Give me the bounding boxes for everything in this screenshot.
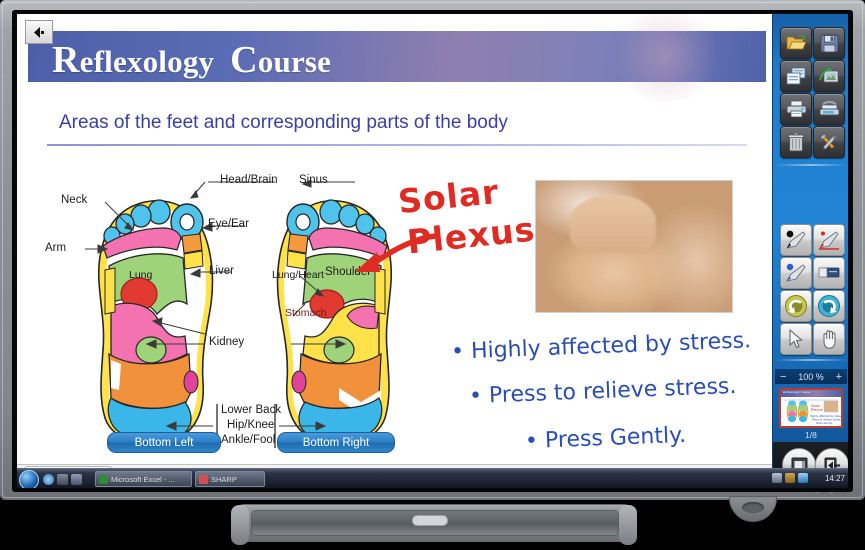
reflexology-foot-diagram: Head/Brain Neck Arm Eye/Ear Liver Kidney… [45,154,445,459]
pan-button[interactable] [813,323,845,355]
import-image-button[interactable] [813,60,845,92]
eraser-button[interactable] [813,257,845,289]
soundbar [236,504,632,542]
print-button[interactable] [780,93,812,125]
tool-panel: − 100 % + Reflexology Course [772,14,848,488]
label-arm: Arm [45,242,66,254]
hand-icon [820,329,839,349]
soundbar-cap-right [619,505,637,545]
slide-canvas[interactable]: Reflexology Course Areas of the feet and… [17,14,772,488]
slide-title-band: Reflexology Course [28,31,766,82]
image-import-icon [819,67,839,85]
save-file-button[interactable] [813,27,845,59]
tool-group-divider-1 [775,164,847,166]
pen-blue-icon [785,263,807,283]
redo-arrow-icon [817,294,841,318]
show-desktop-icon[interactable] [71,474,82,485]
undo-button[interactable] [780,290,812,322]
label-liver: Liver [209,265,234,277]
select-button[interactable] [780,323,812,355]
svg-text:Highly affected by stress.: Highly affected by stress. [810,414,841,418]
title-rest-2: ourse [258,44,331,79]
undo-arrow-icon [784,294,808,318]
label-stomach: Stomach [285,307,326,319]
redo-button[interactable] [813,290,845,322]
printer-icon [786,100,807,118]
sharp-app-icon [199,475,208,484]
tray-action-icon[interactable] [798,473,808,483]
soundbar-assembly [236,500,630,544]
pen-blue-button[interactable] [780,257,812,289]
eraser-icon [818,265,840,281]
taskbar-item-excel[interactable]: Microsoft Excel - ... [95,471,192,487]
zoom-control[interactable]: − 100 % + [775,369,847,384]
taskbar-item-excel-label: Microsoft Excel - ... [111,475,175,484]
label-lung-heart: Lung/Heart [272,269,324,281]
tray-volume-icon[interactable] [785,473,795,483]
label-eye-ear: Eye/Ear [208,218,249,230]
soundbar-led [412,515,448,526]
title-cap-2: C [230,39,258,81]
taskbar-item-sharp-label: SHARP [211,475,237,484]
label-ankle-foot: Ankle/Fool [221,434,275,446]
taskbar-clock[interactable]: 14:27 [825,474,845,483]
thumbnail-page-count: 1/8 [775,430,847,440]
slide-thumbnail[interactable]: Reflexology Course [779,388,843,428]
camera-module [729,496,777,522]
new-sheet-button[interactable] [780,60,812,92]
photo-toes [570,195,656,253]
delete-button[interactable] [780,126,812,158]
cursor-arrow-icon [788,329,804,349]
bottom-right-button[interactable]: Bottom Right [277,432,395,453]
svg-text:Press to relieve stress.: Press to relieve stress. [812,418,841,422]
ink-note-1: • Highly affected by stress. [451,328,752,365]
pen-black-icon [785,230,807,250]
open-file-button[interactable] [780,27,812,59]
media-player-icon[interactable] [57,474,68,485]
pen-red-button[interactable] [813,224,845,256]
ink-red-arrow [347,232,437,280]
zoom-out-button[interactable]: − [780,371,786,383]
tools-wrench-icon [819,133,839,152]
foot-massage-photo [535,180,733,313]
label-lung: Lung [129,269,152,281]
open-folder-icon [786,34,806,52]
zoom-level: 100 % [798,372,824,382]
label-head-brain: Head/Brain [220,174,278,186]
page-title: Reflexology Course [52,38,331,82]
thumbnail-title: Reflexology Course [783,390,810,394]
ink-note-2: • Press to relieve stress. [469,374,737,409]
subtitle-divider [47,144,747,146]
collapse-left-icon[interactable] [25,20,53,44]
thumbnail-content: Solar Plexus Highly affected by stress. … [781,398,841,427]
screen: Reflexology Course Areas of the feet and… [17,14,848,488]
title-cap-1: R [52,39,80,81]
windows-taskbar: Microsoft Excel - ... SHARP 14:27 [17,468,848,488]
sharp-interactive-display: SHARP Reflexology Course Areas of the fe… [0,0,865,550]
label-hip-knee: Hip/Knee [227,419,274,431]
label-sinus: Sinus [299,174,328,186]
taskbar-item-sharp[interactable]: SHARP [195,471,265,487]
bottom-left-button[interactable]: Bottom Left [107,432,221,453]
pen-red-icon [818,230,840,250]
excel-icon [99,475,108,484]
trash-can-icon [788,133,804,152]
ink-note-3: • Press Gently. [525,423,687,454]
label-kidney: Kidney [209,336,244,348]
soundbar-cap-left [231,505,249,545]
settings-button[interactable] [813,126,845,158]
tray-network-icon[interactable] [772,473,782,483]
tool-group-divider-2 [775,359,847,361]
scanner-icon [819,100,840,118]
scan-button[interactable] [813,93,845,125]
floppy-disk-icon [820,34,839,53]
camera-lens-icon [742,502,764,513]
label-lower-back: Lower Back [221,404,281,416]
copy-sheet-icon [786,67,806,85]
zoom-in-button[interactable]: + [836,371,842,383]
svg-text:Press Gently.: Press Gently. [816,421,833,425]
start-orb-icon[interactable] [19,470,39,488]
svg-text:Plexus: Plexus [811,408,823,412]
label-neck: Neck [61,194,87,206]
pen-black-button[interactable] [780,224,812,256]
slide-subtitle: Areas of the feet and corresponding part… [59,112,508,134]
thumbnail-title-band: Reflexology Course [781,390,841,397]
title-rest-1: eflexology [80,44,215,79]
ie-browser-icon[interactable] [43,474,54,485]
